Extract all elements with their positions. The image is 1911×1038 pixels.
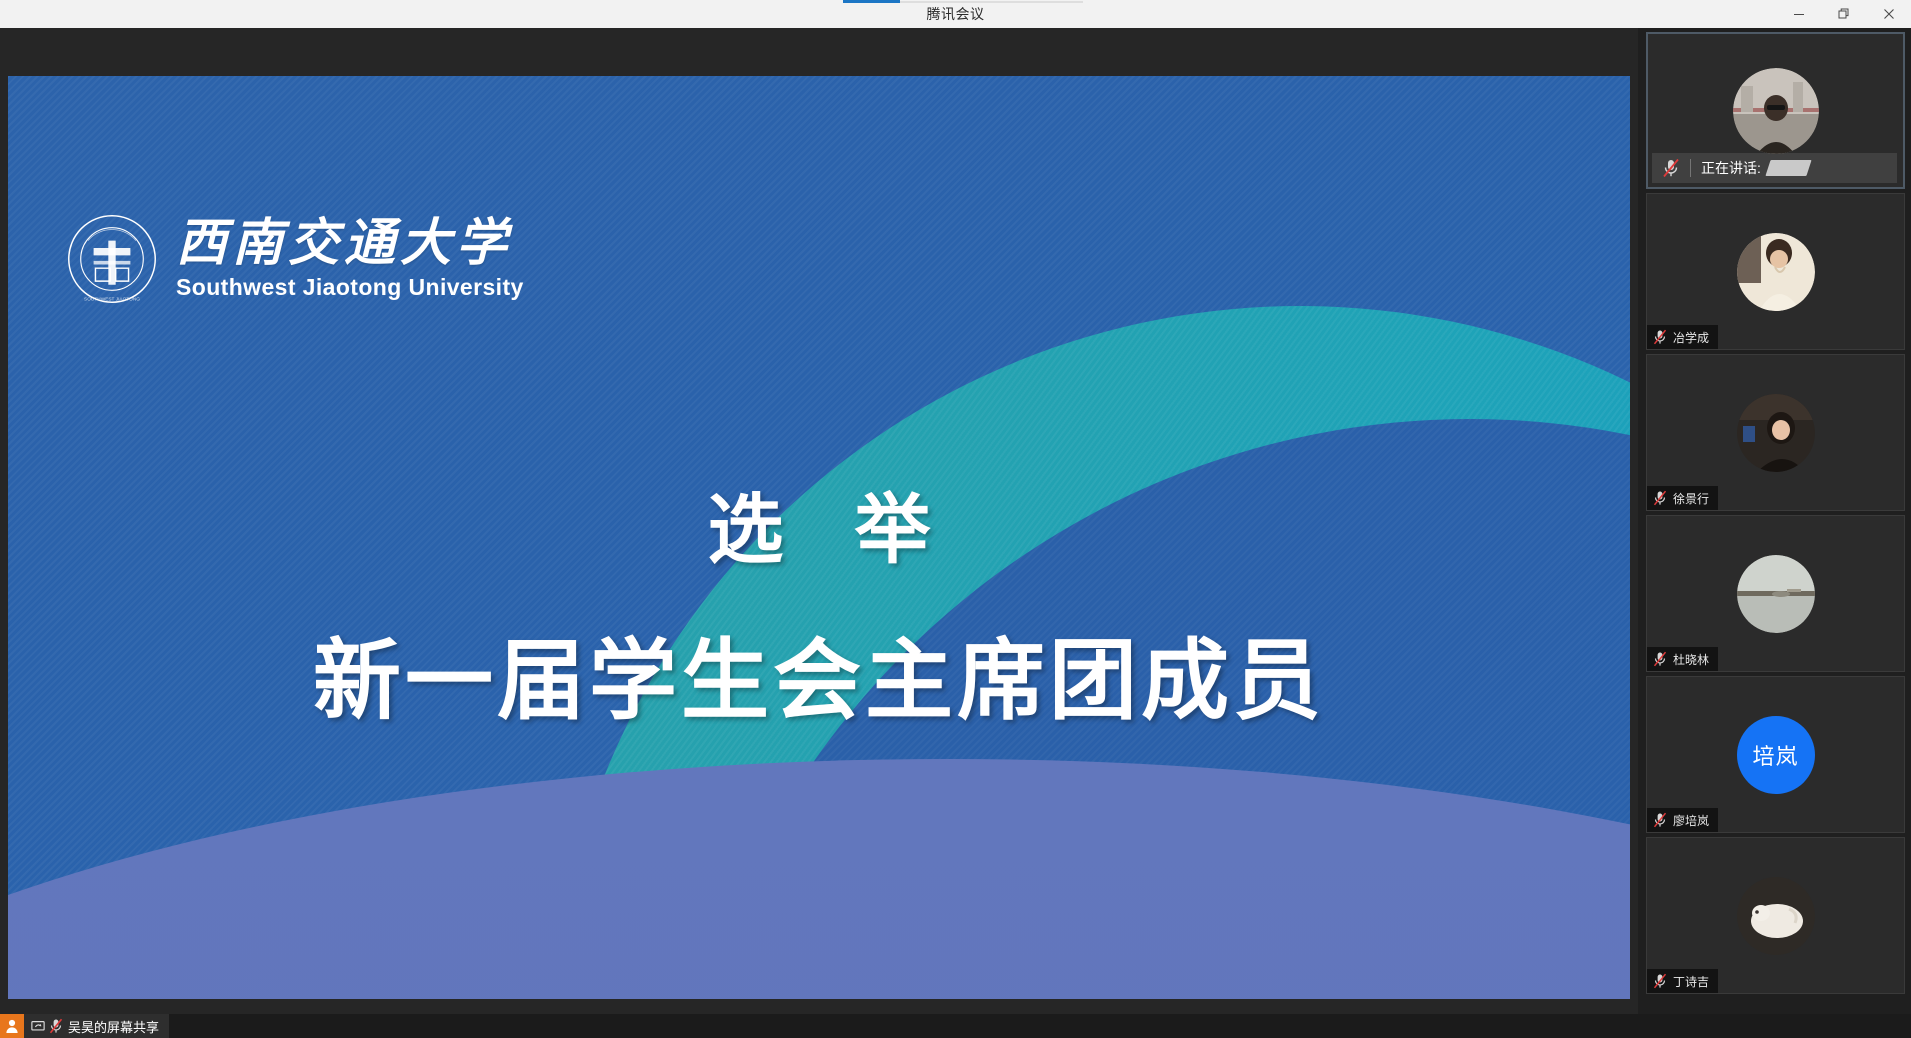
university-logo: SOUTHWEST JIAOTONG 西南交通大学 Southwest Jiao… (66, 213, 524, 305)
mic-off-icon (1653, 812, 1667, 828)
participant-name: 冶学成 (1673, 329, 1709, 346)
minimize-icon (1793, 8, 1805, 20)
window-controls (1776, 0, 1911, 28)
participant-tile[interactable]: 丁诗吉 (1646, 837, 1905, 994)
mic-off-icon[interactable] (49, 1018, 63, 1034)
close-button[interactable] (1866, 0, 1911, 28)
window-titlebar: 腾讯会议 (0, 0, 1911, 28)
avatar (1737, 394, 1815, 472)
avatar-photo-icon (1737, 555, 1815, 633)
participant-name: 廖培岚 (1673, 812, 1709, 829)
avatar-initials: 培岚 (1737, 716, 1815, 794)
mic-off-icon (1662, 158, 1680, 178)
participant-name: 徐景行 (1673, 490, 1709, 507)
avatar: 培岚 (1737, 716, 1815, 794)
sharer-avatar (0, 1014, 24, 1038)
close-icon (1883, 8, 1895, 20)
participant-tile[interactable]: 正在讲话: (1646, 32, 1905, 189)
speaking-status-label: 正在讲话: (1701, 158, 1761, 178)
participant-tile[interactable]: 徐景行 (1646, 354, 1905, 511)
screen-share-icon[interactable] (31, 1019, 45, 1033)
avatar (1737, 877, 1815, 955)
avatar-photo-icon (1737, 233, 1815, 311)
avatar (1737, 555, 1815, 633)
presentation-slide: SOUTHWEST JIAOTONG 西南交通大学 Southwest Jiao… (8, 76, 1630, 999)
svg-text:SOUTHWEST JIAOTONG: SOUTHWEST JIAOTONG (84, 296, 140, 302)
mic-off-icon (1653, 490, 1667, 506)
restore-icon (1838, 8, 1850, 20)
slide-subtitle: 新一届学生会主席团成员 (8, 610, 1630, 737)
window-title: 腾讯会议 (0, 0, 1911, 28)
avatar (1737, 233, 1815, 311)
participant-tile[interactable]: 培岚 廖培岚 (1646, 676, 1905, 833)
screen-share-taskbar: 吴昊的屏幕共享 (0, 1014, 1911, 1038)
university-seal-icon: SOUTHWEST JIAOTONG (66, 213, 158, 305)
avatar-photo-icon (1737, 877, 1815, 955)
participant-nameplate: 杜晓林 (1647, 647, 1718, 671)
share-status-icons (24, 1018, 68, 1034)
participant-nameplate: 冶学成 (1647, 325, 1718, 349)
nameplate-divider (1690, 159, 1691, 177)
speaking-nameplate: 正在讲话: (1652, 153, 1897, 183)
logo-chinese-name: 西南交通大学 (176, 217, 524, 272)
mic-off-icon (1653, 651, 1667, 667)
minimize-button[interactable] (1776, 0, 1821, 28)
redacted-name (1771, 160, 1809, 176)
slide-title: 选 举 (8, 468, 1630, 578)
mic-off-icon (1653, 973, 1667, 989)
avatar-photo-icon (1737, 394, 1815, 472)
person-icon (4, 1018, 20, 1034)
tencent-meeting-window: 腾讯会议 (0, 0, 1911, 1038)
logo-english-name: Southwest Jiaotong University (176, 274, 524, 301)
shared-screen-stage[interactable]: SOUTHWEST JIAOTONG 西南交通大学 Southwest Jiao… (0, 28, 1638, 1014)
participant-name: 丁诗吉 (1673, 973, 1709, 990)
mic-off-icon (1653, 329, 1667, 345)
screen-share-indicator[interactable]: 吴昊的屏幕共享 (0, 1014, 169, 1038)
participant-nameplate: 廖培岚 (1647, 808, 1718, 832)
participant-sidebar[interactable]: 正在讲话: (1638, 28, 1911, 1014)
restore-button[interactable] (1821, 0, 1866, 28)
avatar-photo-icon (1733, 68, 1819, 154)
participant-nameplate: 徐景行 (1647, 486, 1718, 510)
participant-name: 杜晓林 (1673, 651, 1709, 668)
participant-tile[interactable]: 杜晓林 (1646, 515, 1905, 672)
participant-tile[interactable]: 冶学成 (1646, 193, 1905, 350)
avatar (1733, 68, 1819, 154)
logo-wordmark: 西南交通大学 Southwest Jiaotong University (176, 217, 524, 301)
screen-share-label: 吴昊的屏幕共享 (68, 1017, 159, 1036)
participant-nameplate: 丁诗吉 (1647, 969, 1718, 993)
meeting-body: SOUTHWEST JIAOTONG 西南交通大学 Southwest Jiao… (0, 28, 1911, 1014)
